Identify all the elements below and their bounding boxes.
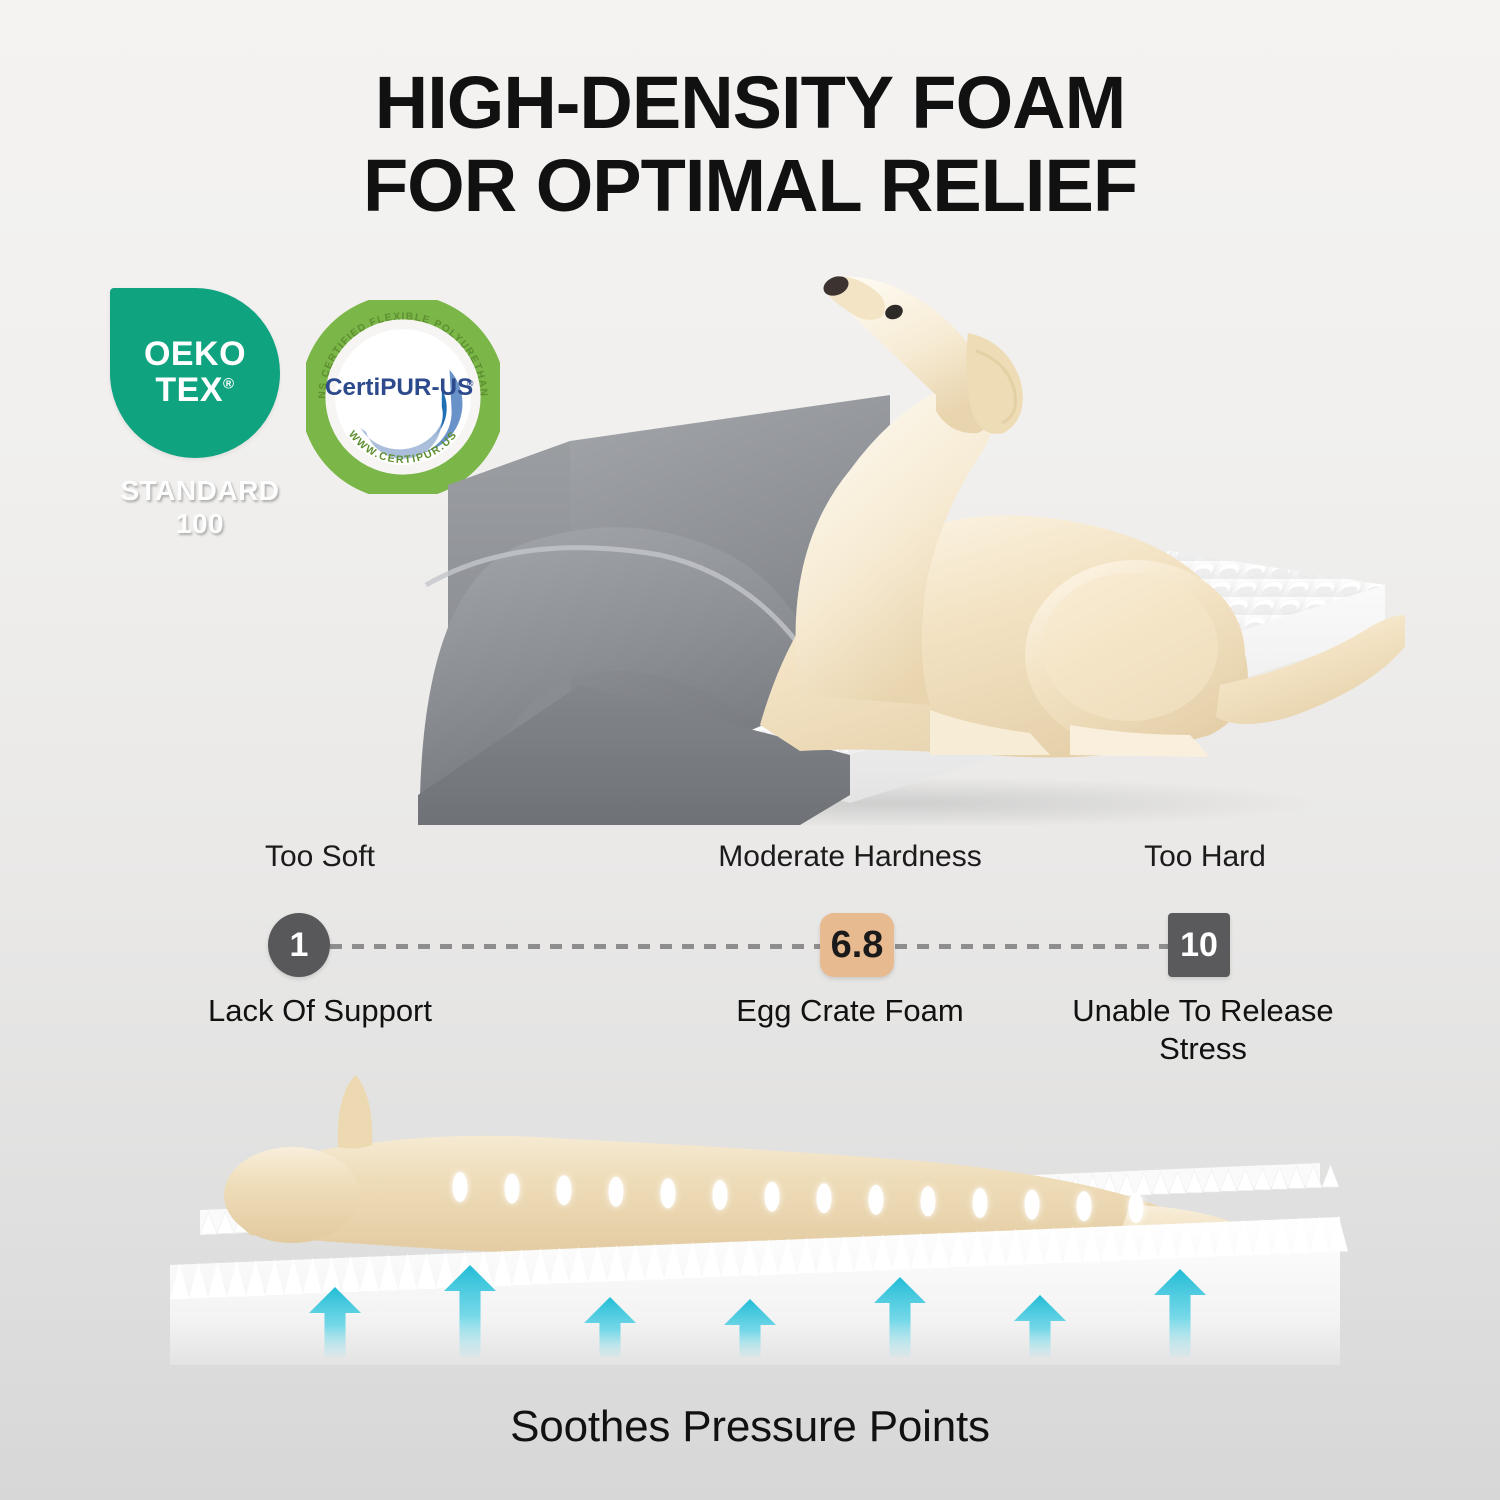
pressure-point bbox=[505, 1174, 520, 1204]
oeko-tex-droplet-icon: OEKO TEX® bbox=[110, 288, 280, 458]
scale-marker-current: 6.8 bbox=[820, 913, 894, 977]
pressure-point bbox=[921, 1186, 936, 1216]
footer-caption: Soothes Pressure Points bbox=[0, 1402, 1500, 1452]
scale-top-label-moderate: Moderate Hardness bbox=[690, 840, 1010, 874]
pressure-point bbox=[557, 1175, 572, 1205]
pressure-point bbox=[661, 1178, 676, 1208]
dog-ear-flat bbox=[338, 1075, 372, 1149]
oeko-tex-standard-label: STANDARD 100 bbox=[110, 474, 290, 540]
scale-marker-min: 1 bbox=[268, 913, 330, 977]
dog-head-flat bbox=[224, 1147, 360, 1243]
oeko-tex-badge: OEKO TEX® STANDARD 100 bbox=[110, 288, 300, 540]
scale-dotted-line-left bbox=[330, 944, 825, 949]
hardness-scale: Too Soft Moderate Hardness Too Hard 1 6.… bbox=[0, 840, 1500, 1040]
scale-bottom-label-lack-of-support: Lack Of Support bbox=[160, 992, 480, 1030]
scale-bottom-label-egg-crate-foam: Egg Crate Foam bbox=[690, 992, 1010, 1030]
headline-line-2: FOR OPTIMAL RELIEF bbox=[0, 145, 1500, 228]
pressure-point bbox=[609, 1177, 624, 1207]
pressure-point bbox=[1077, 1191, 1092, 1221]
pressure-point bbox=[453, 1172, 468, 1202]
scale-marker-max: 10 bbox=[1168, 913, 1230, 977]
page-title: HIGH-DENSITY FOAM FOR OPTIMAL RELIEF bbox=[0, 62, 1500, 228]
oeko-tex-line-1: OEKO bbox=[144, 337, 246, 373]
pressure-point bbox=[765, 1182, 780, 1212]
product-photo-dog-bed bbox=[330, 255, 1405, 825]
oeko-tex-line-2: TEX® bbox=[155, 373, 234, 409]
pressure-point bbox=[1129, 1193, 1144, 1223]
pressure-point bbox=[869, 1185, 884, 1215]
pressure-point bbox=[817, 1183, 832, 1213]
headline-line-1: HIGH-DENSITY FOAM bbox=[0, 62, 1500, 145]
dog-ear bbox=[966, 333, 1022, 434]
scale-top-label-too-soft: Too Soft bbox=[195, 840, 445, 874]
pressure-point bbox=[1025, 1190, 1040, 1220]
dog-haunch-highlight bbox=[1042, 573, 1218, 721]
pressure-point bbox=[973, 1188, 988, 1218]
pressure-relief-illustration bbox=[140, 1035, 1370, 1380]
scale-top-label-too-hard: Too Hard bbox=[1080, 840, 1330, 874]
pressure-point bbox=[713, 1180, 728, 1210]
scale-dotted-line-right bbox=[895, 944, 1170, 949]
